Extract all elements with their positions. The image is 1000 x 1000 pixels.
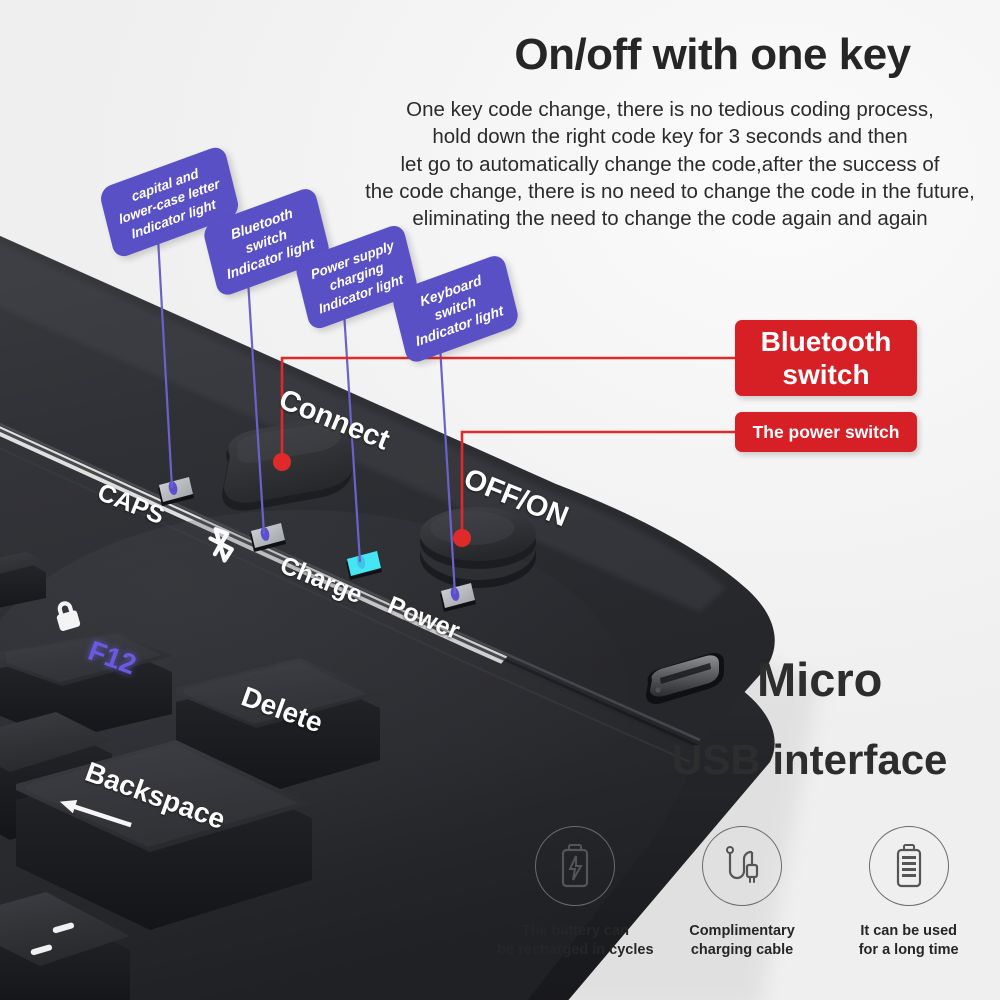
description-paragraph: One key code change, there is no tedious… [340, 96, 1000, 232]
feature-row: The battery can be recharged in cycles C… [492, 826, 992, 961]
feature-battery-caption: The battery can be recharged in cycles [492, 922, 659, 961]
feature-long-life: It can be used for a long time [825, 826, 992, 961]
paragraph-line-2: hold down the right code key for 3 secon… [340, 123, 1000, 150]
battery-full-icon [869, 826, 949, 906]
feature-2-line-2: charging cable [659, 941, 826, 960]
battery-charging-icon [535, 826, 615, 906]
feature-3-line-2: for a long time [825, 941, 992, 960]
feature-charging-cable: Complimentary charging cable [659, 826, 826, 961]
paragraph-line-4: the code change, there is no need to cha… [340, 178, 1000, 205]
usb-cable-icon [702, 826, 782, 906]
usb-cable-glyph [721, 843, 763, 889]
battery-full-glyph [891, 843, 927, 889]
feature-1-line-1: The battery can [492, 922, 659, 941]
paragraph-line-1: One key code change, there is no tedious… [340, 96, 1000, 123]
callout-bluetooth-switch: Bluetooth switch [735, 320, 917, 396]
red-dot-power [453, 529, 471, 547]
red-dot-connect [273, 453, 291, 471]
feature-3-line-1: It can be used [825, 922, 992, 941]
feature-longlife-caption: It can be used for a long time [825, 922, 992, 961]
feature-1-line-2: be recharged in cycles [492, 941, 659, 960]
paragraph-line-3: let go to automatically change the code,… [340, 151, 1000, 178]
red-pw-line-1: The power switch [753, 422, 900, 443]
red-bt-line-1: Bluetooth [761, 325, 892, 358]
page-title: On/off with one key [430, 32, 995, 78]
micro-usb-line-1: Micro [757, 652, 882, 707]
paragraph-line-5: eliminating the need to change the code … [340, 205, 1000, 232]
product-infographic: On/off with one key One key code change,… [0, 0, 1000, 1000]
callout-power-switch: The power switch [735, 412, 917, 452]
feature-2-line-1: Complimentary [659, 922, 826, 941]
micro-usb-line-2: USB interface [672, 736, 947, 784]
feature-cable-caption: Complimentary charging cable [659, 922, 826, 961]
battery-charging-glyph [555, 843, 595, 889]
red-bt-line-2: switch [761, 358, 892, 391]
feature-battery-recharge: The battery can be recharged in cycles [492, 826, 659, 961]
